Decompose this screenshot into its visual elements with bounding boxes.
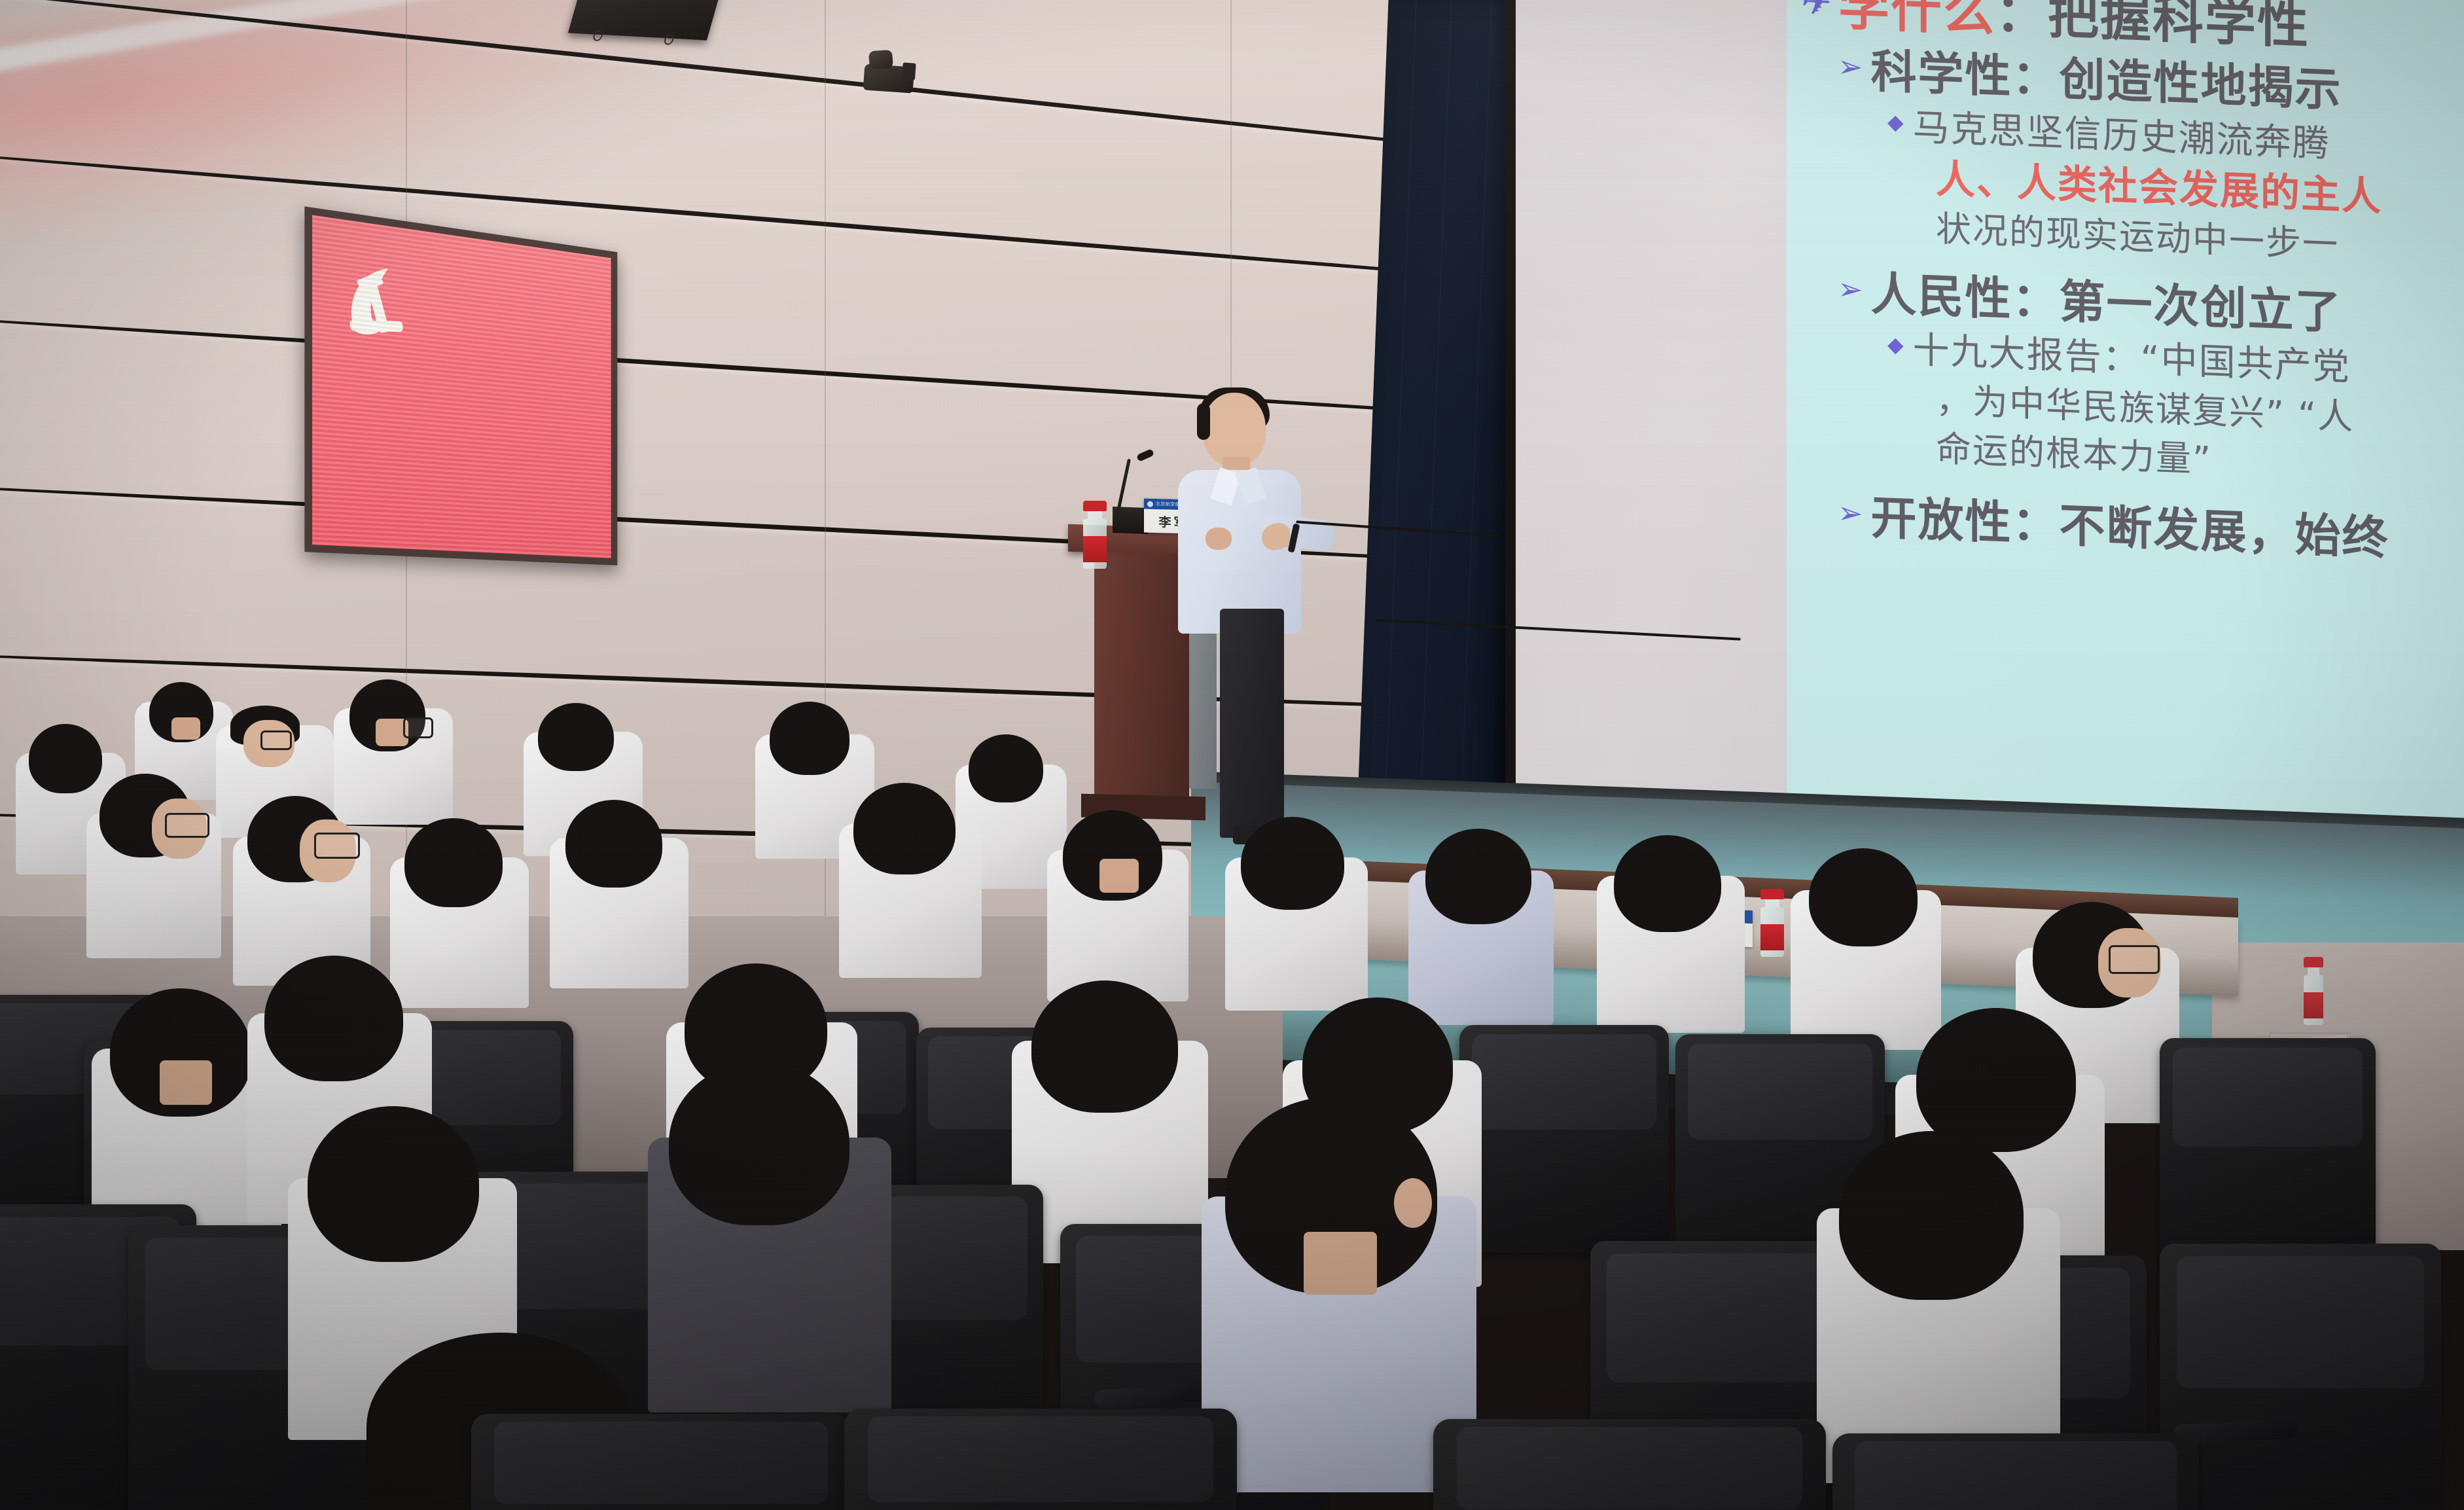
slide-text-block: ✈ 学什么：把握科学性 ➢ 科学性：创造性地揭示 ◆ 马克思坚信历史潮流奔腾 人… bbox=[1787, 0, 2464, 582]
slide-subheading-rest: 创造性地揭示 bbox=[2060, 52, 2342, 117]
led-panel-surface bbox=[312, 215, 611, 558]
speaker-hand bbox=[1205, 528, 1232, 550]
camera-lens-icon bbox=[868, 50, 893, 69]
slide-colon: ： bbox=[2012, 496, 2060, 552]
university-logo-icon bbox=[1147, 501, 1153, 507]
slide-subheading-rest: 第一次创立了 bbox=[2060, 274, 2342, 339]
slide-subheading-rest: 不断发展，始终 bbox=[2060, 498, 2389, 565]
diamond-bullet-icon: ◆ bbox=[1887, 333, 1904, 355]
arrow-bullet-icon: ➢ bbox=[1838, 51, 1863, 82]
airplane-bullet-icon: ✈ bbox=[1801, 0, 1832, 22]
camera-mount-icon bbox=[902, 62, 916, 80]
slide-subheading-label: 人民性 bbox=[1871, 266, 2012, 326]
diamond-bullet-icon: ◆ bbox=[1887, 111, 1904, 133]
lecture-hall-photo: ✈ 学什么：把握科学性 ➢ 科学性：创造性地揭示 ◆ 马克思坚信历史潮流奔腾 人… bbox=[0, 0, 2464, 1510]
speaker-head bbox=[1203, 393, 1266, 466]
led-party-emblem-display bbox=[304, 206, 617, 565]
bottle-neck bbox=[1088, 511, 1102, 519]
slide-heading-rest: 把握科学性 bbox=[2048, 0, 2310, 56]
bottle-body bbox=[1083, 519, 1107, 569]
audience-area bbox=[0, 563, 2464, 1510]
auditorium-seat[interactable] bbox=[1433, 1419, 1826, 1510]
slide-subheading-label: 开放性 bbox=[1871, 491, 2012, 550]
wall-camera-icon bbox=[863, 63, 915, 93]
auditorium-seat[interactable] bbox=[1459, 1025, 1669, 1253]
slide-heading-label: 学什么 bbox=[1838, 0, 1995, 43]
auditorium-seat[interactable] bbox=[844, 1409, 1237, 1510]
arrow-bullet-icon: ➢ bbox=[1838, 273, 1863, 304]
slide-colon: ： bbox=[2012, 272, 2060, 328]
slide-colon: ： bbox=[2012, 50, 2060, 105]
speaker-hair-side bbox=[1197, 403, 1210, 440]
auditorium-seat[interactable] bbox=[2160, 1244, 2441, 1510]
slide-body-text: 命运的根本力量” bbox=[1936, 425, 2212, 484]
slide-subheading-label: 科学性 bbox=[1871, 45, 2012, 104]
arrow-bullet-icon: ➢ bbox=[1838, 497, 1863, 529]
auditorium-seat[interactable] bbox=[471, 1414, 851, 1510]
auditorium-seat[interactable] bbox=[2160, 1038, 2376, 1274]
bottle-cap bbox=[1083, 501, 1107, 511]
auditorium-seat[interactable] bbox=[1832, 1433, 2199, 1510]
water-bottle bbox=[1083, 501, 1107, 569]
hammer-and-sickle-icon bbox=[338, 242, 433, 369]
slide-colon: ： bbox=[1995, 0, 2048, 45]
